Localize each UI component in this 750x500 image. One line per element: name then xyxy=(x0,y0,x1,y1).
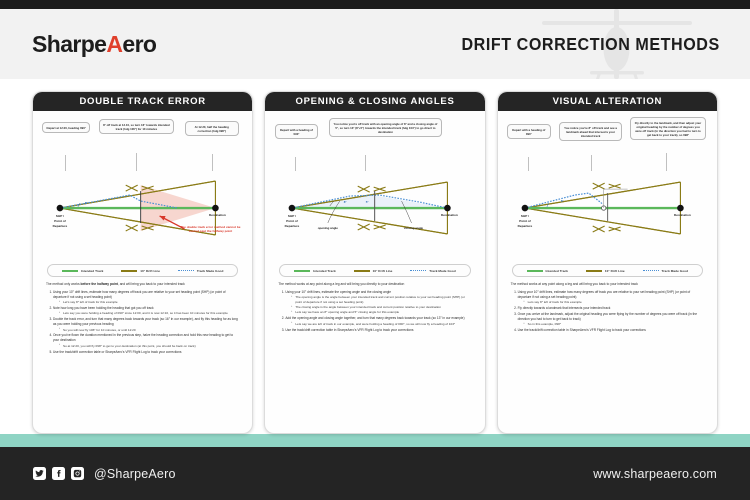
step-item: Use the track/drift correction table or … xyxy=(53,350,239,355)
legend-item-track-made-good: Track Made Good xyxy=(178,269,224,273)
intro-1: The method only works before the halfway… xyxy=(46,282,239,287)
legend-swatch-olive xyxy=(121,270,137,272)
top-accent-strip xyxy=(0,0,750,9)
destination-label-1: Destination xyxy=(209,213,226,217)
callouts-3: Depart with a heading of 090° You notice… xyxy=(503,115,712,171)
callout-leader-1-2 xyxy=(136,153,137,171)
step-text: Use the track/drift correction table in … xyxy=(285,328,413,332)
callout-leader-1-3 xyxy=(212,154,213,171)
steps-list-2: Using your 10° drift lines, estimate the… xyxy=(278,290,471,333)
sub-step: Let's say 8° left of track for this exam… xyxy=(59,300,239,305)
callout-1-2: 8° off track at 12.10, so turn 16° towar… xyxy=(99,119,174,134)
callout-leader-3-1 xyxy=(528,157,529,171)
callout-2-1: Depart with a heading of 090° xyxy=(275,124,319,139)
legend-label-intended-track: Intended Track xyxy=(546,269,569,273)
legend-label-intended-track: Intended Track xyxy=(313,269,336,273)
legend-label-intended-track: Intended Track xyxy=(81,269,104,273)
origin-label-line2: Point of xyxy=(519,219,531,223)
legend-swatch-blue xyxy=(178,270,194,271)
step-text: Once you've flown the duration mentioned… xyxy=(53,333,233,342)
step-text: Once you arrive at the landmark, adjust … xyxy=(518,312,697,321)
legend-item-drift-line: 10° Drift Line xyxy=(121,269,160,273)
step-text: Note how long you have been holding the … xyxy=(53,306,154,310)
callouts-1: Depart at 12.00, heading 090° 8° off tra… xyxy=(38,115,247,171)
callout-3-1: Depart with a heading of 090° xyxy=(507,124,551,139)
intro-1-post: , and will bring you back to your intend… xyxy=(118,282,185,286)
intro-2: The method works at any point along a le… xyxy=(278,282,471,287)
step-item: Use the track/drift correction table in … xyxy=(518,328,704,333)
logo-accent-glyph: A xyxy=(106,31,122,57)
step-item: Add the opening angle and closing angle … xyxy=(285,316,471,326)
step-text: Use the track/drift correction table or … xyxy=(53,350,182,354)
social-links: @SharpeAero xyxy=(33,467,176,481)
website-url[interactable]: www.sharpeaero.com xyxy=(593,467,717,481)
callout-3-2: You notice you're 8° off track and see a… xyxy=(559,122,622,141)
legend-swatch-olive xyxy=(586,270,602,272)
callout-leader-3-2 xyxy=(591,155,592,171)
twitter-icon[interactable] xyxy=(33,467,46,480)
sub-step: So you will now fly 106° for 10 minutes,… xyxy=(59,328,239,333)
diagram-1: 8° SHP / Point of Departure Destination xyxy=(38,171,247,263)
panel-title-2: OPENING & CLOSING ANGLES xyxy=(265,92,484,111)
step-text: Double the track error, and turn that ma… xyxy=(53,317,238,326)
legend-item-intended-track: Intended Track xyxy=(62,269,104,273)
legend-item-intended-track: Intended Track xyxy=(294,269,336,273)
legend-1: Intended Track 10° Drift Line Track Made… xyxy=(47,264,238,277)
destination-label-3: Destination xyxy=(674,213,691,217)
diagram-3: 8° SHP / Point of Departure Destination xyxy=(503,171,712,263)
legend-swatch-green xyxy=(527,270,543,272)
instagram-icon[interactable] xyxy=(71,467,84,480)
sub-step: Lets say you were holding a heading of 0… xyxy=(59,311,239,316)
sub-step: So in this example, 098° xyxy=(524,322,704,327)
sub-step: Lets say 8° left of track for this examp… xyxy=(524,300,704,305)
legend-swatch-green xyxy=(294,270,310,272)
closing-angle-label-line1: closing angle xyxy=(404,226,423,230)
logo-text-tail: ero xyxy=(122,31,156,57)
legend-swatch-olive xyxy=(354,270,370,272)
origin-label-line3: Departure xyxy=(285,224,300,228)
intro-1-pre: The method only works xyxy=(46,282,81,286)
origin-label-line1: SHP / xyxy=(56,214,64,218)
legend-label-drift-line: 10° Drift Line xyxy=(140,269,160,273)
teal-divider-band xyxy=(0,434,750,447)
intro-3: The method works at any point along a le… xyxy=(511,282,704,287)
callout-leader-2-2 xyxy=(365,155,366,171)
step-item: Double the track error, and turn that ma… xyxy=(53,317,239,332)
legend-item-track-made-good: Track Made Good xyxy=(643,269,689,273)
legend-swatch-blue xyxy=(643,270,659,271)
steps-3: The method works at any point along a le… xyxy=(503,277,712,430)
legend-item-drift-line: 10° Drift Line xyxy=(586,269,625,273)
origin-label-line1: SHP / xyxy=(521,214,529,218)
page-title: DRIFT CORRECTION METHODS xyxy=(462,34,720,55)
legend-item-drift-line: 10° Drift Line xyxy=(354,269,393,273)
panel-title-3: VISUAL ALTERATION xyxy=(498,92,717,111)
destination-label-2: Destination xyxy=(441,213,458,217)
step-item: Use the track/drift correction table in … xyxy=(285,328,471,333)
logo-text-main: Sharpe xyxy=(32,31,106,57)
page-header: SharpeAero DRIFT CORRECTION METHODS xyxy=(0,9,750,79)
sub-step: Lets say we are left of track in our exa… xyxy=(291,322,471,327)
origin-label-line2: Point of xyxy=(54,219,66,223)
sub-step: The closing angle is the angle between y… xyxy=(291,305,471,310)
legend-swatch-blue xyxy=(410,270,426,271)
steps-list-1: Using your 10° drift lines, estimate how… xyxy=(46,290,239,355)
legend-label-drift-line: 10° Drift Line xyxy=(605,269,625,273)
sub-step: So at 12:20, you will fly 098° to get to… xyxy=(59,344,239,349)
step-item: Using your 10° drift lines, estimate the… xyxy=(285,290,471,315)
callout-leader-3-3 xyxy=(666,153,667,171)
legend-swatch-green xyxy=(62,270,78,272)
callout-leader-1-1 xyxy=(65,155,66,171)
steps-list-3: Using your 10° drift lines, estimate how… xyxy=(511,290,704,333)
panels-container: DOUBLE TRACK ERROR Depart at 12.00, head… xyxy=(0,79,750,434)
step-item: Fly directly towards a landmark that int… xyxy=(518,306,704,311)
step-text: Using your 10° drift lines, estimate how… xyxy=(53,290,226,299)
legend-3: Intended Track 10° Drift Line Track Made… xyxy=(512,264,703,277)
legend-label-track-made-good: Track Made Good xyxy=(662,269,689,273)
callouts-2: Depart with a heading of 090° You notice… xyxy=(270,115,479,171)
origin-label-line3: Departure xyxy=(517,224,532,228)
opening-angle-label-line1: opening angle xyxy=(318,226,339,230)
panel-opening-closing-angles: OPENING & CLOSING ANGLES Depart with a h… xyxy=(264,91,485,434)
legend-label-track-made-good: Track Made Good xyxy=(197,269,224,273)
legend-2: Intended Track 10° Drift Line Track Made… xyxy=(279,264,470,277)
facebook-icon[interactable] xyxy=(52,467,65,480)
warning-annotation-1: The double track error method cannot be … xyxy=(178,225,244,234)
sub-step: The opening angle is the angle between y… xyxy=(291,295,471,304)
step-text: Fly directly towards a landmark that int… xyxy=(518,306,611,310)
origin-label-line3: Departure xyxy=(53,224,68,228)
origin-label-line1: SHP / xyxy=(288,214,296,218)
step-text: Using your 10° drift lines, estimate the… xyxy=(285,290,391,294)
legend-item-intended-track: Intended Track xyxy=(527,269,569,273)
callout-1-3: At 12.20, half the heading correction (h… xyxy=(185,121,239,136)
callout-2-2: You notice you're off track with an open… xyxy=(329,118,442,137)
infographic-page: SharpeAero DRIFT CORRECTION METHODS DOUB… xyxy=(0,0,750,500)
brand-logo: SharpeAero xyxy=(32,31,156,58)
panel-title-1: DOUBLE TRACK ERROR xyxy=(33,92,252,111)
sub-step: Lets say we have an 8° opening angle and… xyxy=(291,310,471,315)
social-handle: @SharpeAero xyxy=(94,467,176,481)
step-item: Once you arrive at the landmark, adjust … xyxy=(518,312,704,327)
step-item: Using your 10° drift lines, estimate how… xyxy=(518,290,704,305)
origin-label-line2: Point of xyxy=(287,219,299,223)
legend-label-drift-line: 10° Drift Line xyxy=(373,269,393,273)
step-item: Once you've flown the duration mentioned… xyxy=(53,333,239,348)
legend-item-track-made-good: Track Made Good xyxy=(410,269,456,273)
panel-double-track-error: DOUBLE TRACK ERROR Depart at 12.00, head… xyxy=(32,91,253,434)
callout-leader-2-1 xyxy=(295,157,296,171)
step-item: Note how long you have been holding the … xyxy=(53,306,239,316)
step-text: Using your 10° drift lines, estimate how… xyxy=(518,290,691,299)
callout-1-1: Depart at 12.00, heading 090° xyxy=(42,122,90,133)
steps-1: The method only works before the halfway… xyxy=(38,277,247,430)
page-footer: @SharpeAero www.sharpeaero.com xyxy=(0,447,750,500)
intro-1-bold: before the halfway point xyxy=(81,282,118,286)
step-text: Add the opening angle and closing angle … xyxy=(285,316,464,320)
step-text: Use the track/drift correction table in … xyxy=(518,328,646,332)
step-item: Using your 10° drift lines, estimate how… xyxy=(53,290,239,305)
steps-2: The method works at any point along a le… xyxy=(270,277,479,430)
legend-label-track-made-good: Track Made Good xyxy=(429,269,456,273)
panel-visual-alteration: VISUAL ALTERATION Depart with a heading … xyxy=(497,91,718,434)
callout-3-3: Fly directly to the landmark, and then a… xyxy=(630,117,705,140)
diagram-2: 8° opening angle 5° closing angle SHP / … xyxy=(270,171,479,263)
